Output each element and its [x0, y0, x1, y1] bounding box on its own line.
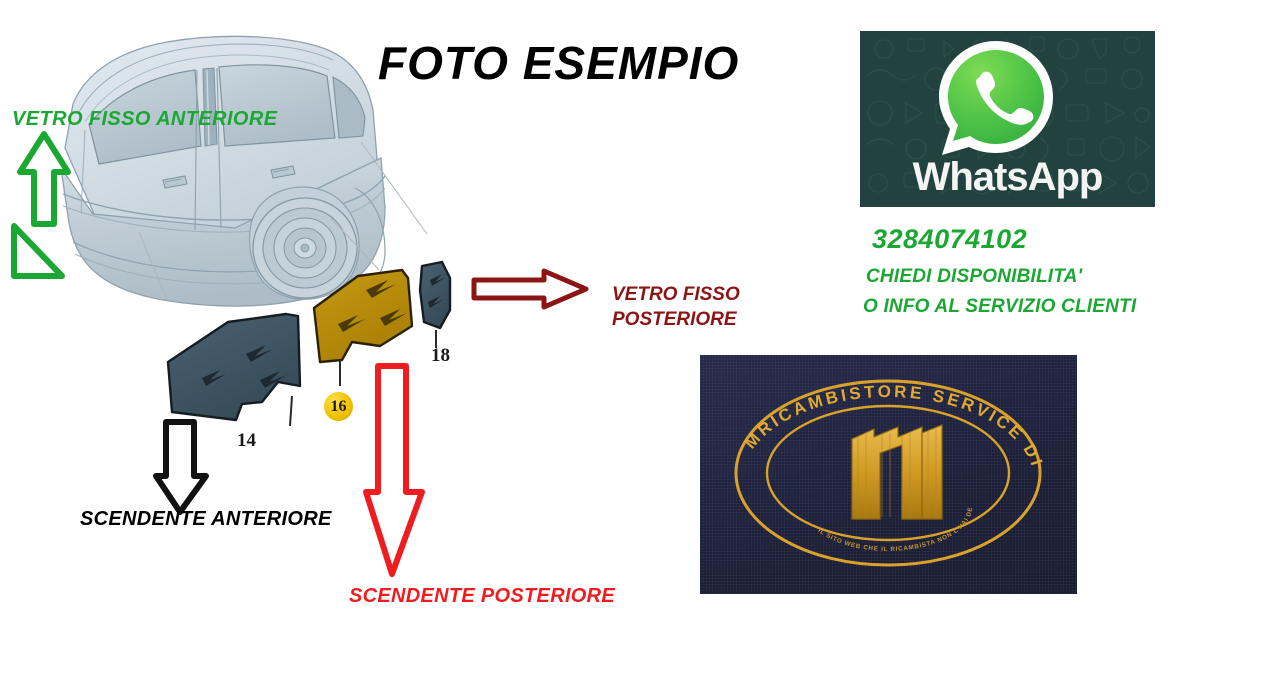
glass-part-18: [420, 262, 450, 328]
down-arrow-red: [366, 362, 430, 580]
label-scendente-posteriore: SCENDENTE POSTERIORE: [349, 585, 615, 608]
part-number-14: 14: [237, 430, 256, 452]
whatsapp-banner: WhatsApp: [860, 31, 1155, 207]
glass-part-14: [168, 314, 300, 420]
right-arrow-darkred: [470, 268, 590, 312]
label-scendente-anteriore: SCENDENTE ANTERIORE: [80, 508, 332, 531]
whatsapp-phone-number[interactable]: 3284074102: [872, 224, 1027, 255]
shop-logo-emblem: MRICAMBISTORE SERVICE DI RUSSO MARCO IL …: [700, 355, 1077, 594]
poster-canvas: 14 16 17 18 FOTO ESEMPIO VETRO FISSO ANT…: [0, 0, 1264, 678]
shop-logo-photo: MRICAMBISTORE SERVICE DI RUSSO MARCO IL …: [700, 355, 1077, 594]
contact-line-availability: CHIEDI DISPONIBILITA': [866, 266, 1082, 288]
label-vetro-fisso-posteriore-line2: POSTERIORE: [612, 307, 740, 332]
glass-part-16: [314, 270, 412, 362]
whatsapp-wordmark: WhatsApp: [860, 155, 1155, 200]
down-arrow-black: [152, 418, 212, 516]
label-vetro-fisso-anteriore: VETRO FISSO ANTERIORE: [12, 108, 277, 131]
label-vetro-fisso-posteriore-line1: VETRO FISSO: [612, 282, 740, 307]
contact-line-customer-service: O INFO AL SERVIZIO CLIENTI: [863, 296, 1136, 318]
part-number-18: 18: [431, 345, 450, 367]
page-title: FOTO ESEMPIO: [378, 36, 798, 90]
part-number-16-badge: 16: [324, 392, 353, 421]
whatsapp-logo-icon: [932, 37, 1060, 159]
label-vetro-fisso-posteriore: VETRO FISSO POSTERIORE: [612, 282, 740, 332]
triangle-marker-green: [6, 222, 66, 284]
